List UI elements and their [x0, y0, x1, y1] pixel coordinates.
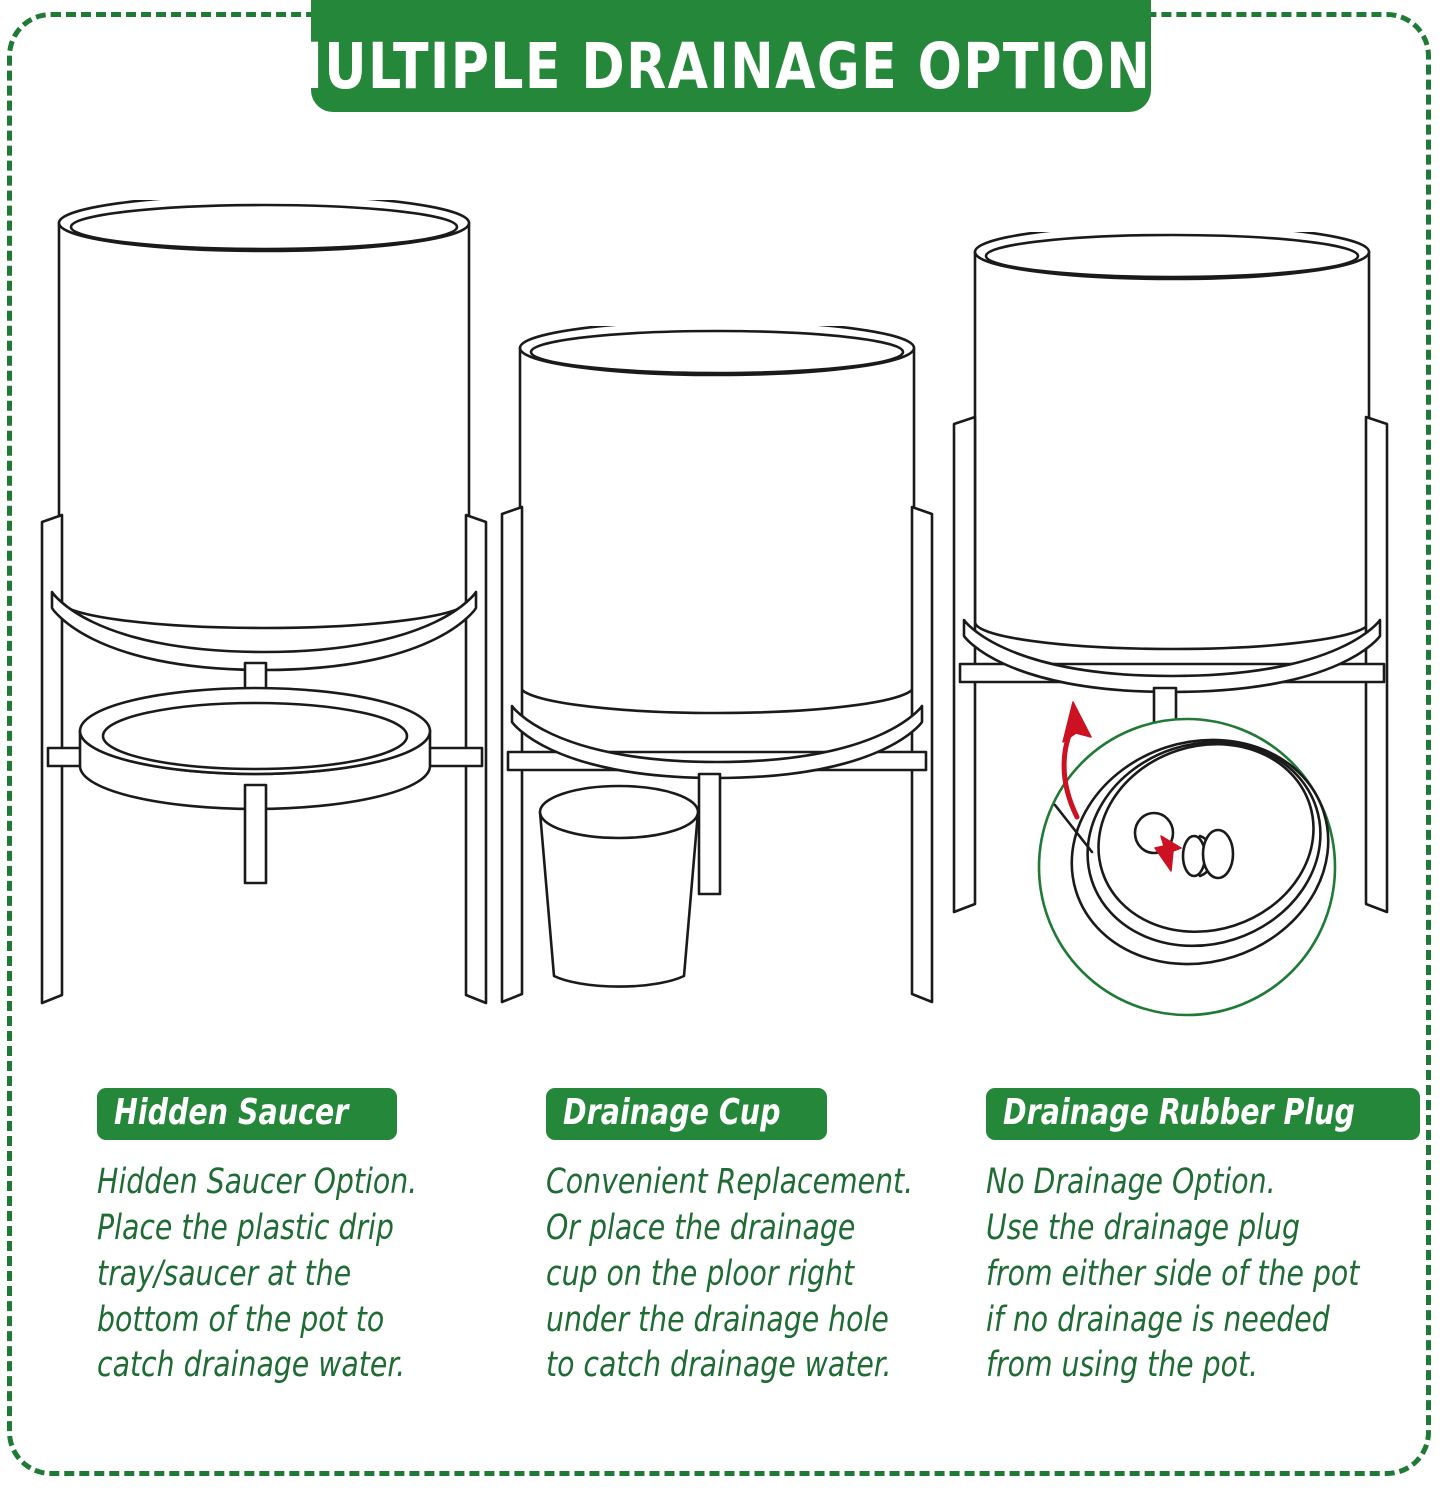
pot-body [59, 223, 469, 628]
caption-column-rubber-plug: Drainage Rubber Plug No Drainage Option.… [986, 1088, 1406, 1389]
description-rubber-plug: No Drainage Option. Use the drainage plu… [986, 1160, 1406, 1389]
page-title: MULTIPLE DRAINAGE OPTIONS [271, 35, 1190, 98]
description-line: to catch drainage water. [546, 1343, 933, 1389]
description-line: No Drainage Option. [986, 1160, 1364, 1206]
description-line: from either side of the pot [986, 1252, 1364, 1298]
pot-rim-inner [986, 235, 1358, 277]
chip-drainage-cup: Drainage Cup [546, 1088, 827, 1140]
drainage-cup-rim [540, 786, 698, 838]
description-line: tray/saucer at the [97, 1252, 475, 1298]
illustration-drainage-cup [492, 326, 942, 1016]
description-line: catch drainage water. [97, 1343, 475, 1389]
description-line: Place the plastic drip [97, 1206, 475, 1252]
pot-rim-inner [71, 205, 457, 249]
saucer-tray-inner [103, 703, 407, 769]
center-post-lower [245, 785, 266, 883]
description-line: if no drainage is needed [986, 1298, 1364, 1344]
center-post [699, 774, 720, 894]
red-callout-arrow-head [1063, 702, 1091, 742]
description-hidden-saucer: Hidden Saucer Option. Place the plastic … [97, 1160, 517, 1389]
chip-drainage-rubber-plug: Drainage Rubber Plug [986, 1088, 1420, 1140]
chip-label: Drainage Rubber Plug [1003, 1095, 1355, 1131]
description-line: Use the drainage plug [986, 1206, 1364, 1252]
chip-label: Drainage Cup [563, 1095, 781, 1131]
description-line: under the drainage hole [546, 1298, 933, 1344]
pot-body [520, 348, 914, 713]
pot-rim-inner [531, 331, 903, 373]
infographic-stage: MULTIPLE DRAINAGE OPTIONS [0, 0, 1445, 1490]
chip-hidden-saucer: Hidden Saucer [97, 1088, 397, 1140]
illustration-hidden-saucer [30, 200, 500, 1020]
description-line: Convenient Replacement. [546, 1160, 933, 1206]
chip-label: Hidden Saucer [114, 1095, 348, 1131]
description-line: bottom of the pot to [97, 1298, 475, 1344]
description-line: Or place the drainage [546, 1206, 933, 1252]
description-line: cup on the ploor right [546, 1252, 933, 1298]
rubber-plug-head [1203, 830, 1233, 878]
caption-column-hidden-saucer: Hidden Saucer Hidden Saucer Option. Plac… [97, 1088, 517, 1389]
pot-body [975, 252, 1369, 649]
title-banner: MULTIPLE DRAINAGE OPTIONS [311, 0, 1151, 112]
caption-column-drainage-cup: Drainage Cup Convenient Replacement. Or … [546, 1088, 976, 1389]
description-line: Hidden Saucer Option. [97, 1160, 475, 1206]
illustration-rubber-plug [942, 232, 1402, 1022]
description-drainage-cup: Convenient Replacement. Or place the dra… [546, 1160, 976, 1389]
rubber-plug-base [1183, 836, 1205, 876]
description-line: from using the pot. [986, 1343, 1364, 1389]
